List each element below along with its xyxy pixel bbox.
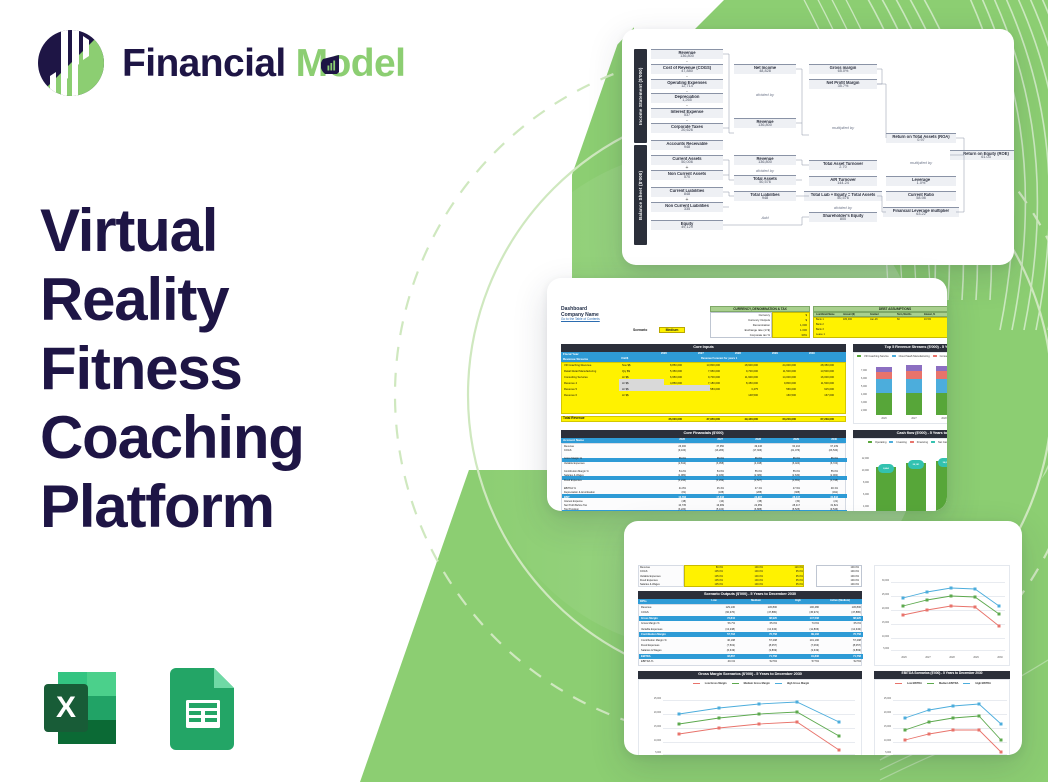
core-financials-cell: 31,842 (804, 496, 838, 499)
core-financials-cell: 49,446 (728, 445, 762, 448)
chart-legend: Operating Investing Financing Net Cash F… (868, 441, 947, 444)
core-input-cell: 6,950,000 (648, 376, 682, 379)
core-financials-cell: 28,447 (766, 496, 800, 499)
core-financials-cell: 10,864 (652, 483, 686, 486)
fc-box: Total Asset Turnover2.70 (809, 160, 877, 170)
scenario-output-col-header: Medium (736, 599, 776, 603)
core-financials-cell: 14,088 (652, 466, 686, 469)
core-input-cell: 3,475 (724, 388, 758, 391)
debt-cell: Bank 2 (816, 323, 824, 326)
core-input-cell: 24,000,000 (762, 364, 796, 367)
core-input-cell: 13,500,000 (800, 370, 834, 373)
scenario-output-row-label: EBITDA % (641, 660, 653, 663)
fc-box: Total Liabilities948 (734, 191, 796, 201)
core-financials-cell: 17,043 (690, 496, 724, 499)
scenario-output-row-label: Salaries & Wages (641, 649, 662, 652)
panel-title-gross-margin-scenarios: Gross Margin Scenarios ($'000) - 5 Years… (638, 671, 862, 679)
scenario-output-cell: (3,649) (779, 649, 819, 652)
google-sheets-icon[interactable] (154, 660, 250, 756)
brand-name-part2: Model (296, 44, 406, 83)
core-input-cell: 14,000,000 (762, 376, 796, 379)
scenario-active-values: 100.0%100.0%100.0%100.0%100.0% (816, 565, 862, 587)
core-input-total-cell: 37,950,000 (686, 418, 720, 421)
core-input-cell: 7,180,000 (686, 382, 720, 385)
core-financials-col-header: 2026 (651, 438, 685, 442)
scenario-output-cell: 65.0% (821, 622, 861, 625)
scenario-assumption-value: 95.0% (765, 579, 803, 582)
scenario-assumption-value: 100.0% (725, 566, 763, 569)
currency-row-value: 30% (801, 333, 807, 337)
core-financials-cell: (9,100) (652, 449, 686, 452)
scenario-output-cell: (45,972) (779, 611, 819, 614)
core-financials-cell: (17,306) (728, 449, 762, 452)
chart-cash-flow: Operating Investing Financing Net Cash F… (853, 438, 947, 511)
core-financials-cell: 22,959 (728, 504, 762, 507)
scenario-assumption-value: 100.0% (725, 583, 763, 586)
fc-box: Revenue136,800 (734, 118, 796, 128)
core-input-cell: 16,000,000 (800, 376, 834, 379)
scenario-output-row-label: Contribution Margin (641, 633, 666, 636)
scenario-output-row-label: EBITDA (641, 655, 651, 658)
fc-box: Equity49,129 (651, 220, 723, 230)
fc-box: Cost of Revenue (COGS)47,880 (651, 64, 723, 74)
scenario-output-row-label: Contribution Margin % (641, 639, 667, 642)
scenario-output-cell: 52.5% (737, 660, 777, 663)
core-inputs-forecast-header: Revenue Forecast for years 1 (701, 357, 737, 361)
core-input-row-unit: Qty $$ (622, 370, 630, 373)
core-input-total-cell: 49,446,000 (724, 418, 758, 421)
core-financials-cell: (3,958) (690, 462, 724, 465)
core-financials-cell: 55.0% (728, 470, 762, 473)
scenario-output-row-label: Fixed Expenses (641, 644, 659, 647)
core-financials-cell: (288) (728, 491, 762, 494)
core-input-cell: 9,800,000 (762, 382, 796, 385)
core-inputs-year: 2030 (809, 352, 815, 356)
core-financials-cell: (21) (804, 500, 838, 503)
core-financials-row-label: EBIT (564, 496, 570, 499)
scenario-assumption-value: 105.0% (685, 579, 723, 582)
core-financials-cell: 32,333 (804, 483, 838, 486)
scenario-output-cell: 57.5% (779, 660, 819, 663)
core-input-row-label: Revenue 4 (564, 382, 577, 385)
core-financials-cell: (8,525) (766, 508, 800, 511)
core-financials-cell: (188) (690, 491, 724, 494)
core-financials-cell: (1,527) (728, 479, 762, 482)
scenario-output-cell: 89,102 (779, 633, 819, 636)
scenario-output-cell: 136,800 (821, 606, 861, 609)
fc-box: Interest Expense537 (651, 108, 723, 118)
fc-box: Current Ratio58.98 (886, 191, 956, 201)
scenario-output-cell: (47,880) (737, 611, 777, 614)
fc-box: Net Income48,828 (734, 64, 796, 74)
scenario-assumption-value: 100.0% (725, 575, 763, 578)
currency-row-label: Exchange rate (1/ $) (745, 328, 770, 332)
panel-title-cash-flow: Cash flow ($'000) - 5 Years to December … (853, 430, 947, 438)
core-financials-grid: Revenue26,00037,95049,44660,21667,239COG… (561, 443, 846, 511)
fc-box: Accounts Receivable948 (651, 140, 723, 150)
currency-labels: CurrencyCurrency OutputsDenominationExch… (710, 312, 772, 338)
core-financials-cell: (1,748) (804, 479, 838, 482)
scenario-active-value: 100.0% (851, 575, 859, 578)
debt-cell: 16.5% (924, 318, 931, 321)
core-financials-cell: 33,116 (766, 466, 800, 469)
core-input-cell: 13,800,000 (686, 364, 720, 367)
core-financials-cell: (4,948) (728, 462, 762, 465)
core-input-cell: 8,850,000 (648, 364, 682, 367)
core-financials-cell: (6,888) (728, 508, 762, 511)
scenario-select[interactable]: Medium (659, 327, 685, 333)
core-financials-cell: 65.0% (766, 457, 800, 460)
core-input-cell: 167,000 (800, 394, 834, 397)
core-financials-cell: 31,821 (804, 504, 838, 507)
scenario-output-cell: 71,758 (737, 655, 777, 658)
chart-revenue-scenarios: 30,000 25,000 20,000 15,000 10,000 5,000… (874, 565, 1010, 666)
scenario-output-cell: 136,800 (737, 606, 777, 609)
currency-row-label: Corporate tax % (750, 333, 770, 337)
core-input-cell: 583,000 (686, 388, 720, 391)
core-financials-row-label: Fixed Expenses (564, 479, 582, 482)
logo-o-barchart-icon (321, 53, 340, 74)
supported-formats: X (32, 660, 250, 756)
ebitda-lines (875, 680, 1009, 755)
scenario-input-labels: RevenueCOGSVariable ExpensesFixed Expens… (638, 565, 684, 587)
scenario-output-cell: (12,343) (737, 628, 777, 631)
core-input-row-label: VR Coaching Revenue (564, 364, 591, 367)
scenario-assumption-label: Revenue (640, 566, 650, 569)
scenarios-sheet: RevenueCOGSVariable ExpensesFixed Expens… (638, 565, 1010, 737)
scenario-assumption-label: COGS (640, 570, 647, 573)
core-financials-row-label: Interest Expense (564, 500, 583, 503)
scenario-output-cell: (3,899) (737, 649, 777, 652)
core-input-cell: 566,000 (762, 388, 796, 391)
brand-logo[interactable]: Financial Model (34, 26, 405, 100)
core-input-total-cell: 60,216,000 (762, 418, 796, 421)
core-financials-cell: 55.0% (804, 470, 838, 473)
spine-income-statement: Income Statement ($'000) (634, 49, 647, 143)
core-financials-cell: (44) (690, 500, 724, 503)
core-financials-cell: 36,981 (804, 466, 838, 469)
core-inputs-year: 2026 (661, 352, 667, 356)
left-content-panel: Financial Model Virtual (0, 0, 470, 782)
core-input-cell: 4,850,000 (648, 382, 682, 385)
scenario-output-cell: 52.5% (821, 660, 861, 663)
fc-box: Financial Leverage multiplier63.22 (883, 207, 959, 217)
scenario-output-row-label: COGS (641, 611, 649, 614)
core-financials-row-label: Gross Margin (564, 453, 580, 456)
fc-box: Net Profit Margin35.7% (809, 79, 877, 89)
gross-margin-lines (639, 680, 861, 755)
core-financials-cell: 17,231 (690, 483, 724, 486)
scenario-assumption-value: 120.0% (765, 566, 803, 569)
core-financials-cell: 48.1% (804, 487, 838, 490)
core-input-cell: 5,350,000 (648, 370, 682, 373)
core-input-total-cell: 26,000,000 (648, 418, 682, 421)
core-financials-cell: 65.0% (652, 457, 686, 460)
scenario-output-cell: 76,758 (737, 633, 777, 636)
core-financials-cell: (491) (804, 491, 838, 494)
scenario-outputs-grid: Revenue129,130136,800190,480136,800COGS(… (638, 604, 862, 666)
revenue-scenario-lines (875, 566, 1009, 665)
core-financials-cell: (13,283) (690, 449, 724, 452)
fc-box: Non Current Assets570 (651, 170, 723, 180)
core-input-row-unit: Hr $$ (622, 382, 629, 385)
core-financials-cell: (6,024) (766, 462, 800, 465)
core-financials-cell: 60,216 (766, 445, 800, 448)
core-inputs-total-label: Total Revenue (563, 416, 585, 420)
scenario-output-cell: (12,343) (821, 628, 861, 631)
scenario-output-cell: (8,057) (737, 644, 777, 647)
currency-row-value: 1.000 (800, 328, 807, 332)
scenario-output-cell: 147,508 (779, 617, 819, 620)
fc-box: Current Assets50,006 (651, 155, 723, 165)
scenario-active-value: 100.0% (851, 566, 859, 569)
scenario-output-cell: 88,920 (821, 617, 861, 620)
panel-title-scenario-outputs: Scenario Outputs ($'000) - 5 Years to De… (638, 591, 862, 599)
debt-cell: 180,000 (843, 318, 852, 321)
core-input-cell: 11,500,000 (800, 382, 834, 385)
scenario-output-cell: 57,298 (737, 639, 777, 642)
core-financials-row-label: Gross Margin % (564, 457, 582, 460)
chart-legend: VR Coaching Service Cloud SaaS Manufactu… (857, 355, 947, 358)
table-of-contents-link[interactable]: Go to the Table of Contents (561, 317, 600, 321)
scenario-output-cell: 73.6% (779, 622, 819, 625)
scenario-assumption-value: 80.0% (685, 566, 723, 569)
core-financials-cell: 65.0% (804, 457, 838, 460)
core-financials-cell: (9,546) (804, 508, 838, 511)
core-financials-cell: 20,710 (690, 466, 724, 469)
chart-gross-margin-scenarios: Low Gross Margin Medium Gross Margin Hig… (638, 679, 862, 755)
scenario-assumption-value: 100.0% (725, 570, 763, 573)
core-input-cell: 9,700,000 (724, 370, 758, 373)
brand-name-part1: Financial (122, 44, 286, 83)
scenario-output-cell: (47,880) (821, 611, 861, 614)
core-input-cell: 8,450,000 (724, 382, 758, 385)
core-financials-cell: 41.8% (652, 487, 686, 490)
core-financials-row-label: Tax Provision (564, 508, 579, 511)
page-title: Virtual Reality Fitness Coaching Platfor… (40, 196, 440, 541)
scenario-assumption-value: 95.0% (765, 575, 803, 578)
core-financials-cell: 10,783 (652, 496, 686, 499)
scenario-output-cell: (8,057) (821, 644, 861, 647)
scenario-assumption-value: 105.0% (685, 583, 723, 586)
core-input-cell: 18,900,000 (724, 364, 758, 367)
scenario-output-cell: 101,196 (779, 639, 819, 642)
core-financials-cell: 65.0% (690, 457, 724, 460)
scenario-output-cell: (6,649) (695, 649, 735, 652)
core-financials-row-label: Variable Expenses (564, 462, 585, 465)
headline-line-4: Coaching (40, 403, 440, 472)
core-financials-cell: 54.6% (690, 470, 724, 473)
core-financials-cell: (388) (766, 491, 800, 494)
core-financials-cell: (2,630) (766, 474, 800, 477)
screenshot-card-dashboard[interactable]: Dashboard Company Name Go to the Table o… (547, 278, 947, 511)
currency-row-label: Denomination (753, 323, 770, 327)
debt-cell: 60 (897, 318, 900, 321)
core-input-cell: 7,950,000 (686, 370, 720, 373)
debt-cell: Jan-26 (870, 318, 878, 321)
scenario-active-value: 100.0% (851, 583, 859, 586)
core-financials-cell: (2,900) (804, 474, 838, 477)
scenario-output-cell: 71,758 (821, 655, 861, 658)
core-financials-cell: (5,100) (690, 508, 724, 511)
scenario-output-cell: 32,867 (695, 655, 735, 658)
fc-box: Depreciation1,265 (651, 93, 723, 103)
fc-box: Operating Expenses12,714 (651, 79, 723, 89)
scenario-output-cell: 91,836 (779, 655, 819, 658)
screenshot-card-dupont-flowchart[interactable]: Income Statement ($'000) Balance Sheet (… (622, 29, 1014, 265)
brand-wordmark: Financial Model (122, 44, 405, 83)
scenario-output-cell: 129,130 (695, 606, 735, 609)
scenario-output-row-label: Gross Margin (641, 617, 658, 620)
scenario-output-cell: (7,063) (779, 644, 819, 647)
core-financials-cell: 37,950 (690, 445, 724, 448)
core-financials-cell: 26,000 (652, 445, 686, 448)
core-input-row-unit: Hr $$ (622, 376, 629, 379)
scenario-assumption-value: 105.0% (685, 575, 723, 578)
scenario-assumption-value: 105.0% (685, 570, 723, 573)
scenario-input-values: 80.0%100.0%120.0%105.0%100.0%95.0%105.0%… (684, 565, 804, 587)
currency-row-label: Currency (759, 313, 770, 317)
core-financials-cell: 28,417 (766, 504, 800, 507)
core-inputs-year: 2028 (735, 352, 741, 356)
scenario-output-cell: (13,238) (695, 628, 735, 631)
core-financials-cell: 22,997 (728, 496, 762, 499)
fc-box: Total Liab + Equity = Total Assets50,576 (804, 191, 882, 201)
core-inputs-grid: VR Coaching RevenueNos $$8,850,00013,800… (561, 362, 846, 414)
chart-revenue-streams: VR Coaching Service Cloud SaaS Manufactu… (853, 352, 947, 424)
fc-box: Corporate Taxes20,626 (651, 123, 723, 133)
scenario-output-cell: 57,298 (821, 639, 861, 642)
core-input-total-cell: 67,239,000 (800, 418, 834, 421)
core-financials-cell: 55.0% (766, 470, 800, 473)
core-financials-cell: (2,180) (690, 474, 724, 477)
scenario-output-cell: 65.0% (737, 622, 777, 625)
fc-box: Return on Equity (ROE)61.03 (950, 150, 1014, 160)
core-financials-row-label: Salaries & Wages (564, 474, 584, 477)
core-input-cell: 148,500 (724, 394, 758, 397)
core-financials-cell: 43,705 (804, 453, 838, 456)
core-financials-cell: (48) (652, 500, 686, 503)
core-financials-cell: 47.9% (766, 487, 800, 490)
scenario-output-cell: 56.7% (695, 622, 735, 625)
currency-row-label: Currency Outputs (748, 318, 770, 322)
core-financials-cell: 54.2% (652, 470, 686, 473)
core-financials-cell: (2,812) (652, 462, 686, 465)
fc-box: Return on Total Assets (ROA)0.97 (886, 133, 956, 143)
core-financials-cell: 45.4% (690, 487, 724, 490)
core-financials-col-header: 2028 (727, 438, 761, 442)
scenario-output-cell: 72,844 (695, 617, 735, 620)
core-financials-row-label: Contribution Margin (564, 466, 588, 469)
core-input-row-unit: Hr $$ (622, 388, 629, 391)
fc-box: A/R Turnover144.24 (809, 176, 877, 186)
microsoft-excel-icon[interactable]: X (32, 660, 128, 756)
scenario-output-col-header: Active (Medium) (820, 599, 860, 603)
scenario-output-cell: 40.1% (695, 660, 735, 663)
core-input-row-label: Consulting Services (564, 376, 588, 379)
core-inputs-year: 2027 (698, 352, 704, 356)
core-financials-cell: (1,244) (652, 479, 686, 482)
panel-title-core-financials: Core Financials ($'000) (561, 430, 846, 438)
core-financials-cell: (81) (652, 491, 686, 494)
fc-box: Total Assets50,576 (734, 175, 796, 185)
core-financials-cell: 32,140 (728, 453, 762, 456)
core-financials-cell: 16,900 (652, 453, 686, 456)
scenario-output-cell: 88,920 (737, 617, 777, 620)
core-input-row-unit: Nos $$ (622, 364, 631, 367)
core-financials-col-header: 2029 (765, 438, 799, 442)
core-input-row-label: Retail Retail Manufacturing (564, 370, 596, 373)
scenario-assumption-value: 100.0% (725, 579, 763, 582)
core-financials-cell: (21,076) (766, 449, 800, 452)
core-financials-cell: (1,651) (766, 479, 800, 482)
headline-line-1: Virtual (40, 196, 440, 265)
core-financials-col-header: 2030 (803, 438, 837, 442)
core-input-cell: 11,500,000 (762, 370, 796, 373)
scenario-assumption-label: Variable Expenses (640, 575, 661, 578)
fc-box: Leverage1.0% (886, 176, 956, 186)
core-financials-cell: 47.1% (728, 487, 762, 490)
core-financials-cell: (30) (766, 500, 800, 503)
scenario-active-value: 100.0% (851, 579, 859, 582)
fc-box: Current Liabilities848 (651, 187, 723, 197)
core-input-row-unit: Hr $$ (622, 394, 629, 397)
core-financials-cell: (38) (728, 500, 762, 503)
chart-ebitda-scenarios: Low EBITDA Medium EBITDA High EBITDA 25,… (874, 679, 1010, 755)
dashboard-sheet: Dashboard Company Name Go to the Table o… (561, 306, 935, 489)
core-financials-col-header: 2027 (689, 438, 723, 442)
debt-cell: Bank 3 (816, 328, 824, 331)
core-input-cell: 28,350,000 (800, 364, 834, 367)
scenario-output-cell: (60,376) (695, 611, 735, 614)
circle-barchart-logo-icon (34, 26, 108, 100)
core-financials-cell: (6,724) (804, 462, 838, 465)
core-input-row-label: Revenue 5 (564, 388, 577, 391)
scenario-assumption-value: 95.0% (765, 583, 803, 586)
dupont-flowchart: Income Statement ($'000) Balance Sheet (… (634, 45, 1004, 255)
debt-cell: Lease 1 (816, 333, 825, 336)
fc-box: Revenue136,800 (734, 155, 796, 165)
core-input-cell: 915,000 (800, 388, 834, 391)
scenario-output-row-label: Revenue (641, 606, 651, 609)
debt-values: Bank 1180,000Jan-266016.5%YearlyBank 2Ba… (813, 317, 947, 338)
core-input-cell: 9,700,000 (686, 376, 720, 379)
core-financials-cell: 10,735 (652, 504, 686, 507)
fc-box: Shareholder's Equity800 (809, 212, 877, 222)
core-financials-cell: 28,835 (766, 483, 800, 486)
scenario-output-cell: (7,502) (695, 644, 735, 647)
spine-balance-sheet: Balance Sheet ($'000) (634, 145, 647, 245)
core-input-row-label: Revenue 6 (564, 394, 577, 397)
core-financials-cell: 65.0% (728, 457, 762, 460)
scenario-output-cell: 190,480 (779, 606, 819, 609)
core-financials-row-label: Depreciation & Amortisation (564, 491, 595, 494)
core-financials-row-label: Revenue (564, 445, 574, 448)
scenario-output-cell: 46,198 (695, 639, 735, 642)
core-input-cell: 160,500 (762, 394, 796, 397)
fc-box: Revenue136,800 (651, 49, 723, 59)
headline-line-5: Platform (40, 472, 440, 541)
scenario-output-cell: (11,806) (779, 628, 819, 631)
excel-letter: X (56, 691, 76, 724)
core-financials-row-label: EBITDA % (564, 487, 576, 490)
core-inputs-total-row: 26,000,00037,950,00049,446,00060,216,000… (561, 416, 846, 422)
core-inputs-year: 2029 (772, 352, 778, 356)
core-financials-cell: 16,999 (690, 504, 724, 507)
core-input-cell: 11,900,000 (724, 376, 758, 379)
scenario-output-cell: 76,758 (821, 633, 861, 636)
screenshot-card-scenarios[interactable]: RevenueCOGSVariable ExpensesFixed Expens… (624, 521, 1022, 755)
